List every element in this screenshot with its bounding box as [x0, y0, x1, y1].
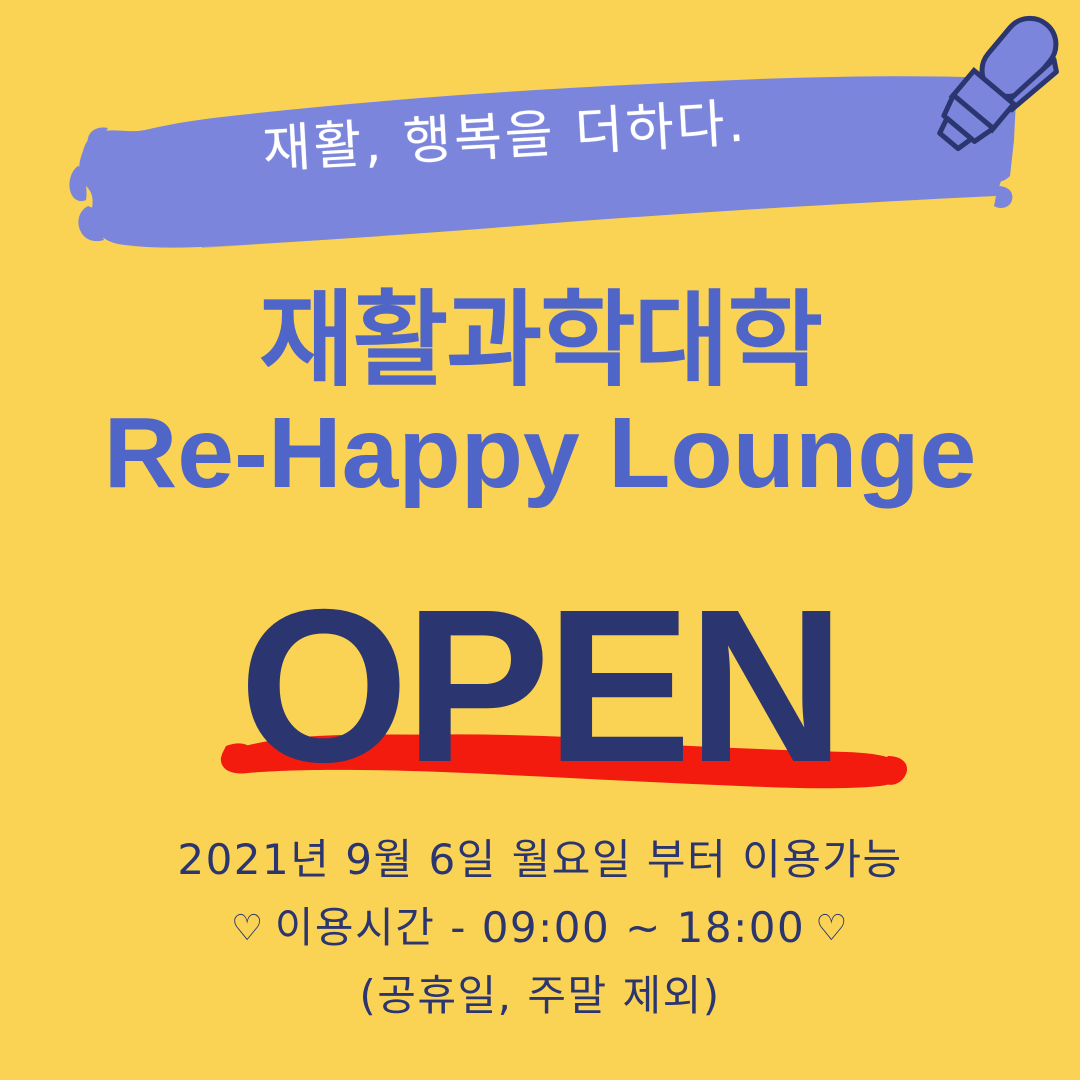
poster-canvas: 재활, 행복을 더하다. 재활과학대학 Re-Happy Lounge — [0, 0, 1080, 1080]
schedule-hours-text: 이용시간 - 09:00 ~ 18:00 — [275, 903, 805, 952]
open-status-block: OPEN — [0, 560, 1080, 810]
tagline-banner: 재활, 행복을 더하다. — [0, 0, 1080, 280]
schedule-exclusions: (공휴일, 주말 제외) — [0, 962, 1080, 1030]
schedule-hours-line: ♡이용시간 - 09:00 ~ 18:00♡ — [0, 894, 1080, 962]
heart-icon-left: ♡ — [231, 900, 265, 958]
page-title-korean: 재활과학대학 — [0, 286, 1080, 395]
highlighter-pen-icon — [922, 2, 1072, 162]
heart-icon-right: ♡ — [815, 900, 849, 958]
schedule-start-date: 2021년 9월 6일 월요일 부터 이용가능 — [0, 826, 1080, 894]
open-label: OPEN — [0, 578, 1080, 796]
schedule-info: 2021년 9월 6일 월요일 부터 이용가능 ♡이용시간 - 09:00 ~ … — [0, 826, 1080, 1030]
page-title-english: Re-Happy Lounge — [0, 403, 1080, 503]
headline-block: 재활과학대학 Re-Happy Lounge — [0, 286, 1080, 503]
